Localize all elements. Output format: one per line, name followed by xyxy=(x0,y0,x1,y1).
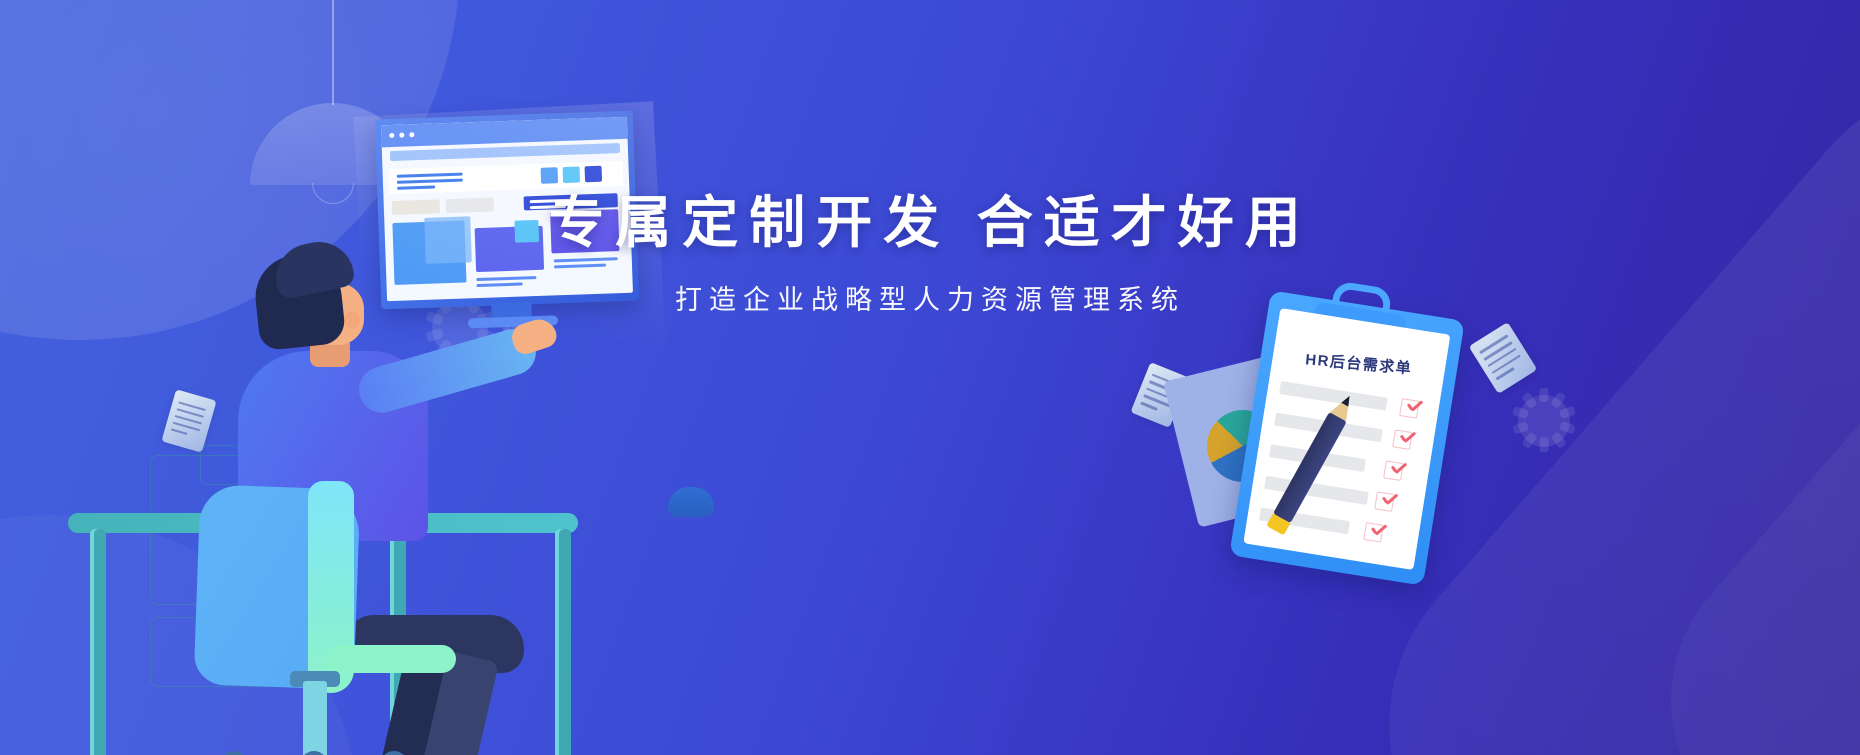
gear-tooth xyxy=(1539,388,1548,403)
checkbox[interactable] xyxy=(1383,460,1404,481)
checkbox[interactable] xyxy=(1374,491,1395,512)
toolbar-tile-icon xyxy=(541,167,559,184)
gear-tooth xyxy=(1539,437,1548,452)
checkbox[interactable] xyxy=(1363,522,1384,543)
illustration-hr-clipboard: HR后台需求单 xyxy=(1185,290,1505,630)
desk-leg xyxy=(90,529,106,755)
check-icon xyxy=(1368,521,1386,539)
clipboard: HR后台需求单 xyxy=(1229,290,1465,585)
check-icon xyxy=(1404,397,1422,415)
toolbar-tile-icon xyxy=(585,166,603,183)
hero-copy: 专属定制开发 合适才好用 打造企业战略型人力资源管理系统 xyxy=(0,190,1860,317)
desk-leg xyxy=(555,529,571,755)
checkbox[interactable] xyxy=(1399,398,1420,419)
toolbar-tile-icon xyxy=(563,166,581,183)
chair-caster xyxy=(220,751,248,755)
check-icon xyxy=(1397,428,1415,446)
clipboard-title: HR后台需求单 xyxy=(1272,345,1445,381)
computer-mouse xyxy=(668,487,714,517)
check-icon xyxy=(1379,490,1397,508)
chair-stem xyxy=(303,681,327,755)
check-icon xyxy=(1388,459,1406,477)
lamp-cord xyxy=(332,0,334,105)
hero-banner: HR后台需求单 专属定制开发 合适才好用 打造企业战略 xyxy=(0,0,1860,755)
page-subtitle: 打造企业战略型人力资源管理系统 xyxy=(0,278,1860,317)
checkbox[interactable] xyxy=(1392,429,1413,450)
gear-icon-right xyxy=(1518,395,1570,447)
chair-seat xyxy=(326,645,456,673)
page-title: 专属定制开发 合适才好用 xyxy=(0,190,1860,256)
